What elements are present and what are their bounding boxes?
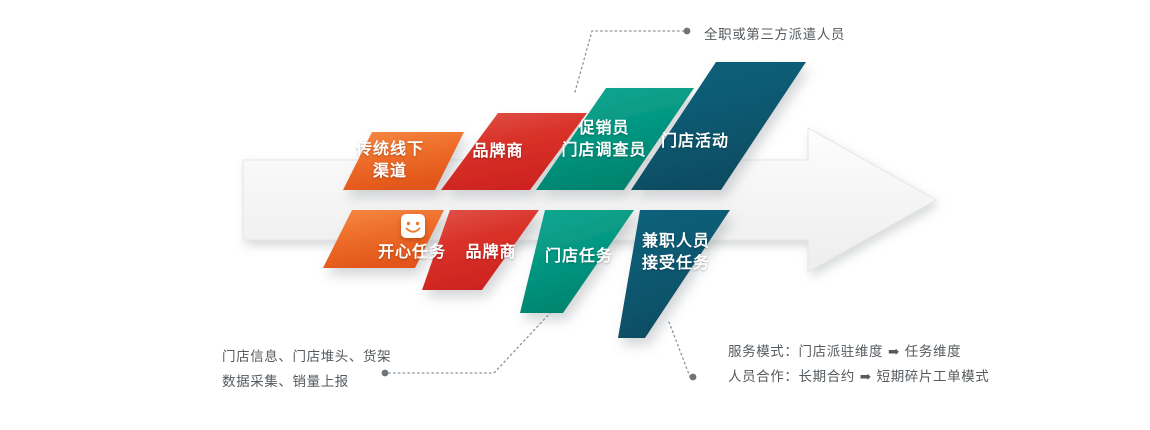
annotation-fulltime: 全职或第三方派遣人员 bbox=[704, 23, 845, 48]
annotation-store-data-line-2: 数据采集、销量上报 bbox=[222, 370, 391, 395]
annotation-service-mode-line-1: 服务模式：门店派驻维度 ➡ 任务维度 bbox=[728, 340, 989, 365]
leader-dot-fulltime bbox=[684, 28, 691, 35]
annotation-service-mode: 服务模式：门店派驻维度 ➡ 任务维度 人员合作：长期合约 ➡ 短期碎片工单模式 bbox=[728, 340, 989, 390]
smiley-face-icon bbox=[401, 214, 425, 238]
leader-service-mode bbox=[669, 322, 692, 377]
leader-store-data bbox=[388, 312, 551, 373]
annotation-fulltime-line-1: 全职或第三方派遣人员 bbox=[704, 23, 845, 48]
annotation-store-data-line-1: 门店信息、门店堆头、货架 bbox=[222, 345, 391, 370]
annotation-store-data: 门店信息、门店堆头、货架 数据采集、销量上报 bbox=[222, 345, 391, 395]
diagram-canvas: 传统线下 渠道 品牌商 促销员 门店调查员 门店活动 开心任务 品牌商 门店任务… bbox=[0, 0, 1150, 430]
annotation-service-mode-line-2: 人员合作：长期合约 ➡ 短期碎片工单模式 bbox=[728, 365, 989, 390]
leader-fulltime bbox=[575, 31, 684, 92]
leader-dot-service-mode bbox=[690, 374, 697, 381]
